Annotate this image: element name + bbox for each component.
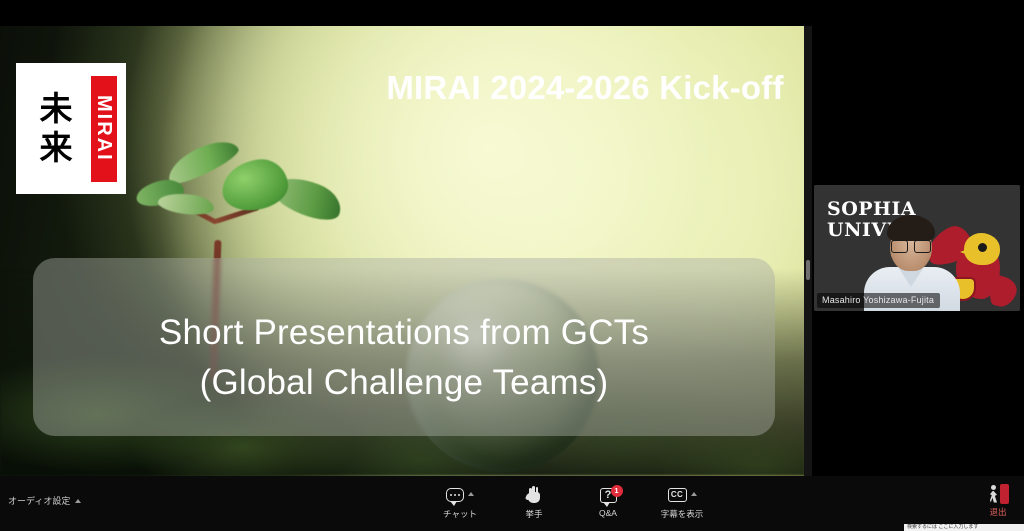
audio-settings-button[interactable]: オーディオ設定 (8, 494, 81, 507)
raise-hand-icon[interactable] (526, 485, 542, 504)
chat-label: チャット (443, 508, 477, 520)
slide-body-line-2: (Global Challenge Teams) (33, 358, 775, 408)
qa-notification-badge: 1 (611, 485, 623, 497)
captions-icon-row: CC (668, 482, 697, 506)
raise-hand-icon-row (526, 482, 542, 506)
participant-name-label: Masahiro Yoshizawa-Fujita (817, 293, 940, 308)
os-taskbar-search-sliver[interactable]: 検索するには ここに入力します (904, 524, 1024, 531)
chevron-up-icon[interactable] (75, 499, 81, 503)
top-black-bar (0, 0, 1024, 26)
closed-caption-icon[interactable]: CC (668, 488, 687, 502)
divider-grip-handle[interactable] (806, 260, 810, 280)
chat-icon-row (446, 482, 474, 506)
raise-hand-label: 挙手 (525, 508, 542, 520)
leave-door-icon[interactable] (987, 484, 1009, 504)
eagle-mascot-eye (978, 243, 987, 252)
mirai-logo-wordmark: MIRAI (94, 95, 114, 162)
leave-label: 退出 (989, 506, 1006, 518)
slide-body-line-1: Short Presentations from GCTs (33, 308, 775, 358)
mirai-logo: 未 来 MIRAI (16, 63, 126, 194)
meeting-control-toolbar: オーディオ設定 チャット (0, 476, 1024, 531)
chevron-up-icon[interactable] (691, 492, 697, 496)
chat-button[interactable]: チャット (432, 482, 488, 520)
mirai-kanji-mi: 未 (25, 90, 87, 129)
raise-hand-button[interactable]: 挙手 (506, 482, 562, 520)
mirai-logo-kanji: 未 来 (25, 90, 87, 168)
participant-video-tile[interactable]: SOPHIA UNIVER Masahiro Yoshizawa-Fujita (814, 185, 1020, 311)
qa-button[interactable]: ? 1 Q&A (580, 482, 636, 518)
leave-door-shape (1000, 484, 1009, 504)
mirai-kanji-rai: 来 (25, 129, 87, 168)
zoom-meeting-window: 未 来 MIRAI MIRAI 2024-2026 Kick-off Short… (0, 0, 1024, 531)
slide-body-text: Short Presentations from GCTs (Global Ch… (33, 308, 775, 407)
leave-meeting-button[interactable]: 退出 (976, 484, 1020, 518)
slide-heading: MIRAI 2024-2026 Kick-off (380, 69, 790, 107)
mirai-logo-red-bar: MIRAI (91, 76, 117, 182)
share-video-divider[interactable] (804, 26, 812, 476)
participant-glasses (891, 240, 931, 251)
qa-icon-row: ? 1 (600, 482, 617, 506)
hand-finger (532, 486, 535, 495)
qa-label: Q&A (599, 508, 617, 518)
leave-person-head (991, 485, 996, 490)
question-answer-icon[interactable]: ? 1 (600, 488, 617, 503)
shared-screen-stage[interactable]: 未 来 MIRAI MIRAI 2024-2026 Kick-off Short… (0, 26, 806, 476)
show-captions-button[interactable]: CC 字幕を表示 (654, 482, 710, 520)
show-captions-label: 字幕を表示 (661, 508, 704, 520)
toolbar-controls-group: チャット 挙手 ? (432, 482, 710, 520)
chat-dots (450, 494, 460, 496)
audio-settings-label: オーディオ設定 (8, 494, 70, 507)
chat-bubble-icon[interactable] (446, 488, 464, 502)
chevron-up-icon[interactable] (468, 492, 474, 496)
leave-person-shape (988, 485, 1000, 503)
leave-person-body (990, 491, 997, 503)
hand-finger (536, 487, 539, 495)
